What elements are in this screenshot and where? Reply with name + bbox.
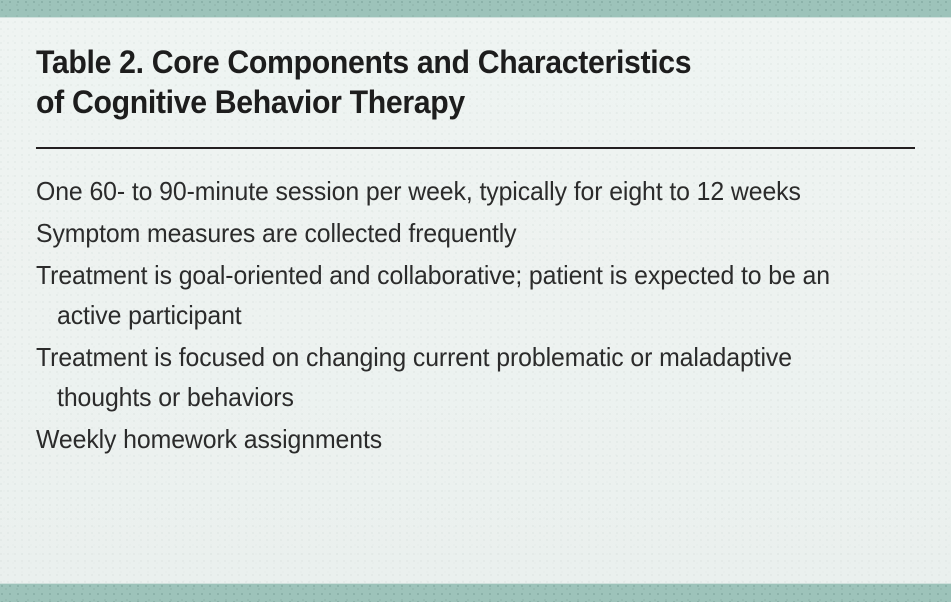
top-accent-band (0, 0, 951, 18)
table-card: Table 2. Core Components and Characteris… (0, 0, 951, 602)
table-item-list: One 60- to 90-minute session per week, t… (36, 171, 915, 459)
title-divider-rule (36, 147, 915, 149)
bottom-accent-band (0, 583, 951, 602)
table-row: Treatment is goal-oriented and collabora… (36, 255, 875, 335)
table-content: Table 2. Core Components and Characteris… (0, 17, 951, 584)
table-row: Treatment is focused on changing current… (36, 337, 875, 417)
table-title-line-1: Table 2. Core Components and Characteris… (36, 44, 691, 80)
table-row: One 60- to 90-minute session per week, t… (36, 171, 875, 211)
table-row: Weekly homework assignments (36, 419, 875, 459)
table-title-line-2: of Cognitive Behavior Therapy (36, 84, 465, 120)
table-title: Table 2. Core Components and Characteris… (36, 17, 853, 122)
table-row: Symptom measures are collected frequentl… (36, 213, 875, 253)
